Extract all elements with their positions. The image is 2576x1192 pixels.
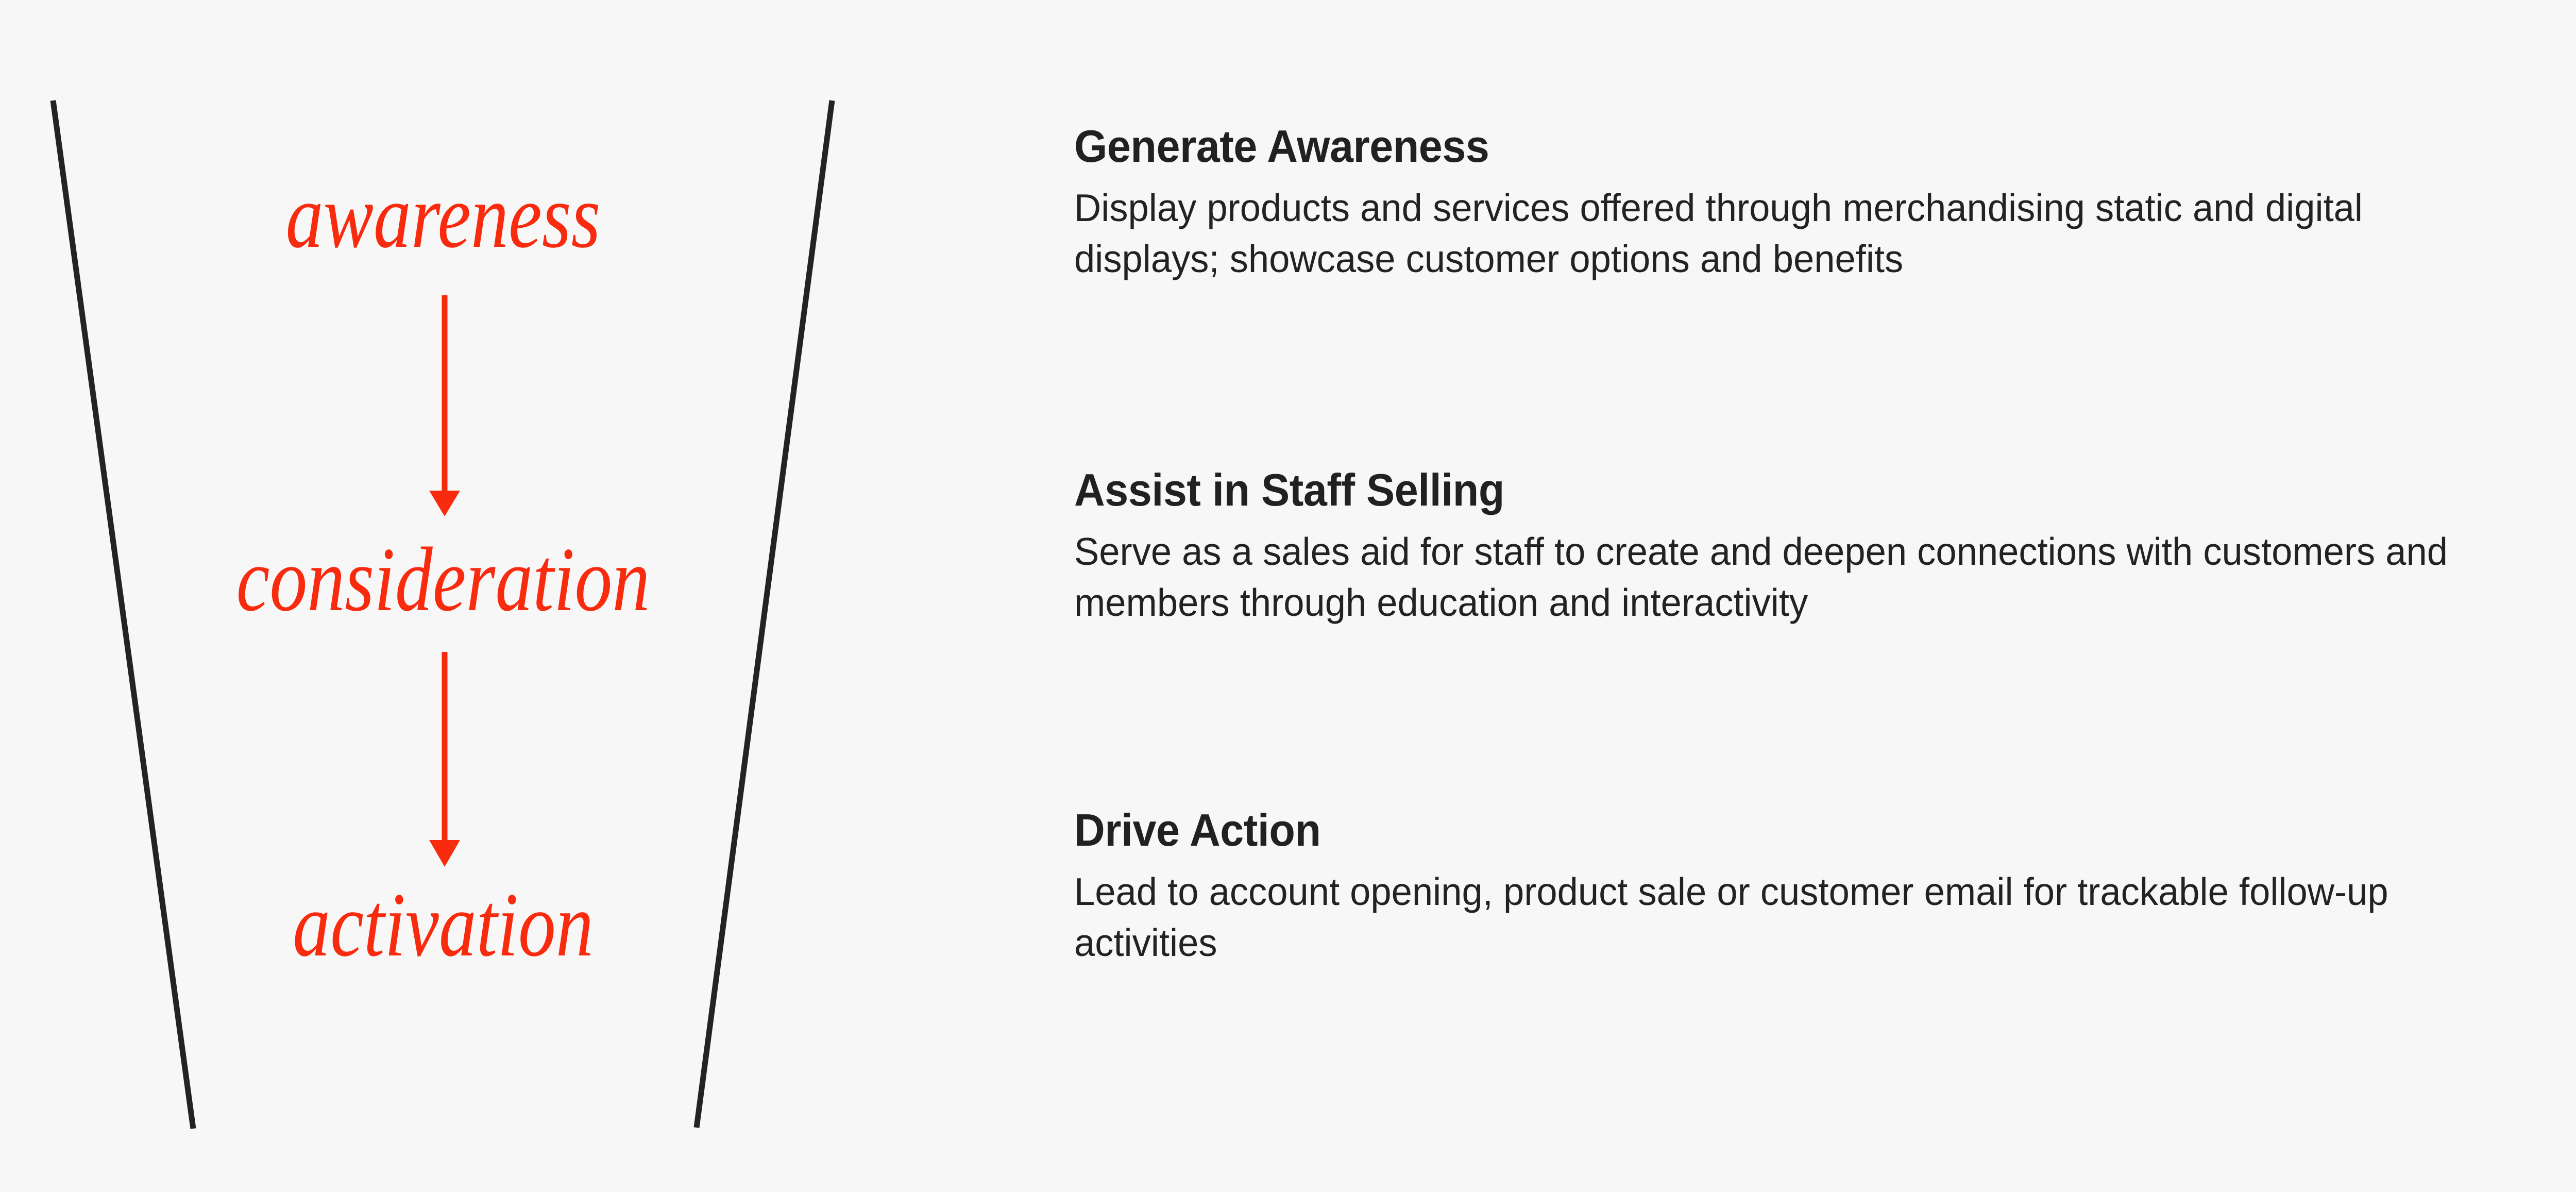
content-body-drive-action: Lead to account opening, product sale or…: [1074, 866, 2496, 968]
content-heading-assist-in-staff-selling: Assist in Staff Selling: [1074, 466, 2464, 514]
content-body-generate-awareness: Display products and services offered th…: [1074, 182, 2496, 284]
funnel-stage-awareness: awareness: [80, 170, 806, 262]
content-panel: Generate Awareness Display products and …: [1074, 0, 2553, 1192]
funnel-stage-activation: activation: [80, 879, 806, 970]
content-block-assist-in-staff-selling: Assist in Staff Selling Serve as a sales…: [1074, 466, 2553, 628]
diagram-canvas: awareness consideration activation Gener…: [0, 0, 2576, 1192]
funnel-panel: awareness consideration activation: [0, 0, 979, 1192]
content-block-drive-action: Drive Action Lead to account opening, pr…: [1074, 807, 2553, 968]
content-body-assist-in-staff-selling: Serve as a sales aid for staff to create…: [1074, 526, 2496, 628]
content-heading-drive-action: Drive Action: [1074, 807, 2464, 854]
content-heading-generate-awareness: Generate Awareness: [1074, 123, 2464, 170]
arrow-consideration-to-activation: [429, 652, 460, 867]
funnel-stage-consideration: consideration: [80, 533, 806, 625]
content-block-generate-awareness: Generate Awareness Display products and …: [1074, 123, 2553, 284]
arrow-awareness-to-consideration: [429, 295, 460, 516]
